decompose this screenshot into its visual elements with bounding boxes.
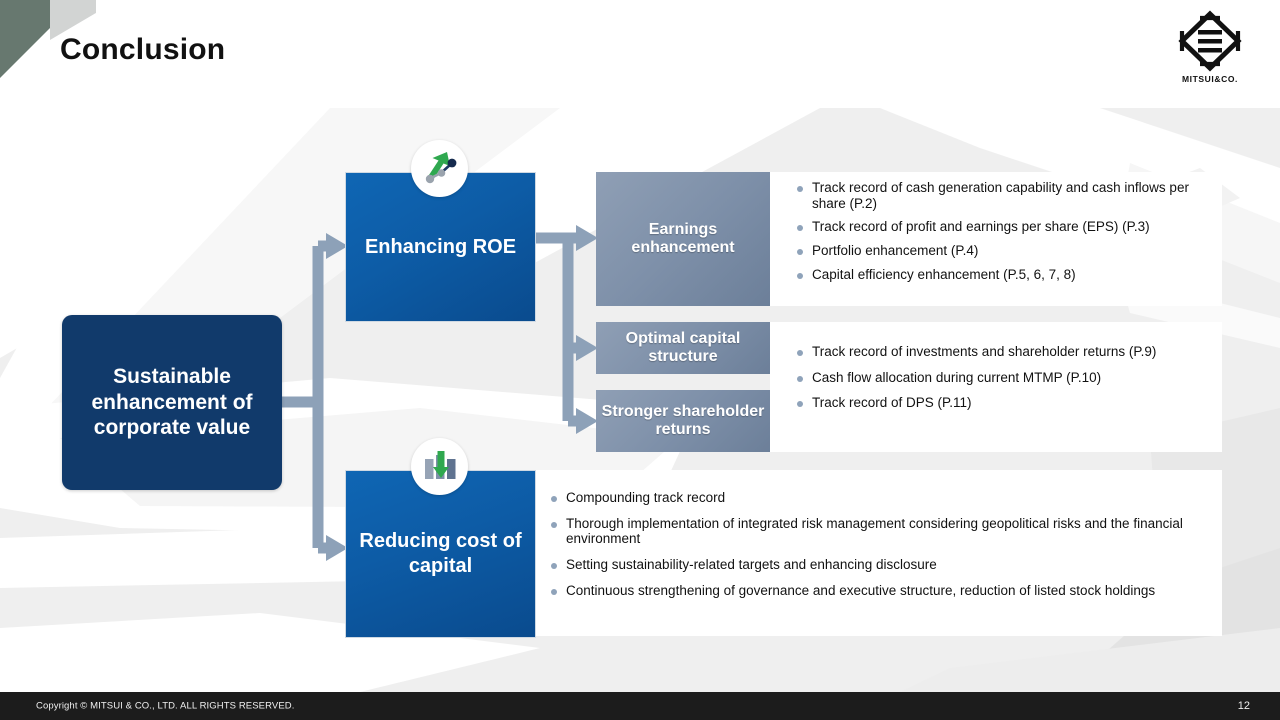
list-item: Cash flow allocation during current MTMP… xyxy=(795,370,1225,386)
corner-decoration-white xyxy=(96,0,142,30)
growth-arrow-icon-svg xyxy=(417,146,463,192)
branch-box-reducing-cost-label: Reducing cost of capital xyxy=(346,529,535,579)
page-number: 12 xyxy=(1238,700,1250,712)
list-item: Thorough implementation of integrated ri… xyxy=(549,516,1209,547)
list-item: Track record of cash generation capabili… xyxy=(795,180,1225,211)
cost-of-capital-bullet-list: Compounding track record Thorough implem… xyxy=(549,490,1209,608)
subbox-earnings-enhancement[interactable]: Earnings enhancement xyxy=(596,172,770,306)
subbox-earnings-enhancement-label: Earnings enhancement xyxy=(596,221,770,257)
root-box-sustainable-value[interactable]: Sustainable enhancement of corporate val… xyxy=(62,315,282,490)
list-item: Continuous strengthening of governance a… xyxy=(549,583,1209,599)
list-item: Compounding track record xyxy=(549,490,1209,506)
branch-box-enhancing-roe-label: Enhancing ROE xyxy=(365,235,516,260)
subbox-stronger-shareholder-returns-label: Stronger shareholder returns xyxy=(596,403,770,439)
declining-bar-chart-icon xyxy=(411,438,468,495)
slide-canvas: Sustainable enhancement of corporate val… xyxy=(0,0,1280,720)
list-item: Track record of investments and sharehol… xyxy=(795,344,1225,360)
list-item: Track record of DPS (P.11) xyxy=(795,395,1225,411)
slide-footer: Copyright © MITSUI & CO., LTD. ALL RIGHT… xyxy=(0,692,1280,720)
list-item: Track record of profit and earnings per … xyxy=(795,219,1225,235)
list-item: Setting sustainability-related targets a… xyxy=(549,557,1209,573)
declining-bar-chart-icon-svg xyxy=(418,445,462,489)
copyright-text: Copyright © MITSUI & CO., LTD. ALL RIGHT… xyxy=(36,701,294,712)
capital-bullet-list: Track record of investments and sharehol… xyxy=(795,344,1225,421)
earnings-bullet-list: Track record of cash generation capabili… xyxy=(795,180,1225,282)
mitsui-logo-text: MITSUI&CO. xyxy=(1160,74,1260,84)
subbox-optimal-capital-structure-label: Optimal capital structure xyxy=(596,330,770,366)
mitsui-logo: MITSUI&CO. xyxy=(1160,8,1260,90)
root-box-label: Sustainable enhancement of corporate val… xyxy=(62,364,282,441)
page-title: Conclusion xyxy=(60,33,225,67)
growth-arrow-icon xyxy=(411,140,468,197)
slide-header: Conclusion MITSUI&CO. xyxy=(0,0,1280,108)
branch-box-reducing-cost-of-capital[interactable]: Reducing cost of capital xyxy=(345,470,536,638)
subbox-stronger-shareholder-returns[interactable]: Stronger shareholder returns xyxy=(596,390,770,452)
list-item: Capital efficiency enhancement (P.5, 6, … xyxy=(795,267,1225,283)
list-item: Portfolio enhancement (P.4) xyxy=(795,243,1225,259)
mitsui-logo-mark xyxy=(1160,8,1260,74)
subbox-optimal-capital-structure[interactable]: Optimal capital structure xyxy=(596,322,770,374)
